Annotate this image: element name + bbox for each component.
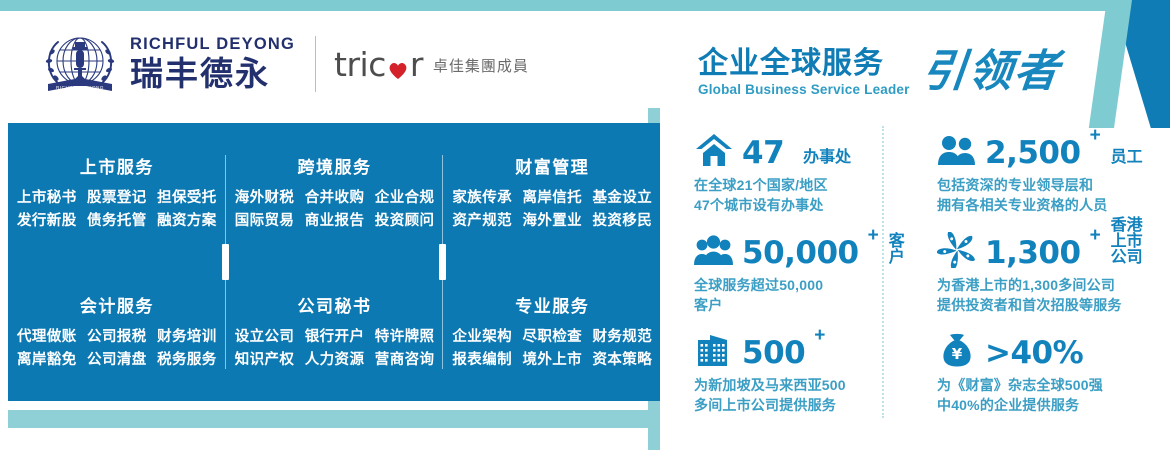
stat-unit: 办事处	[803, 150, 851, 168]
service-items-row: 海外财税 合并收购 企业合规	[232, 187, 438, 209]
service-group-listing[interactable]: 上市服务 上市秘书 股票登记 担保受托 发行新股 债务托管 融资方案	[8, 123, 226, 262]
stat-plus: +	[1090, 126, 1101, 145]
brand-text-block: RICHFUL DEYONG 瑞丰德永	[130, 35, 295, 93]
service-item[interactable]: 财务规范	[593, 329, 653, 345]
two-people-icon	[937, 132, 977, 168]
service-item[interactable]: 财务培训	[157, 329, 217, 345]
stat-desc-line: 为香港上市的1,300多间公司	[937, 275, 1148, 295]
service-group-accounting[interactable]: 会计服务 代理做账 公司报税 财务培训 离岸豁免 公司清盘 税务服务	[8, 262, 226, 401]
service-group-title: 专业服务	[515, 292, 589, 317]
service-group-title: 上市服务	[80, 153, 154, 178]
headline-text-stack: 企业全球服务 Global Business Service Leader	[698, 48, 910, 97]
stat-description: 为新加坡及马来西亚500 多间上市公司提供服务	[694, 375, 905, 416]
service-item[interactable]: 企业合规	[375, 190, 435, 206]
stat-number: 47	[742, 139, 784, 168]
brand-name-cn: 瑞丰德永	[130, 55, 295, 93]
service-items-row: 知识产权 人力资源 营商咨询	[232, 349, 438, 371]
stat-description: 为《财富》杂志全球500强 中40%的企业提供服务	[937, 375, 1148, 416]
stat-description: 在全球21个国家/地区 47个城市设有办事处	[694, 175, 905, 216]
stat-desc-line: 全球服务超过50,000	[694, 275, 905, 295]
service-items-row: 离岸豁免 公司清盘 税务服务	[14, 349, 220, 371]
tricor-logo: tric r 卓佳集團成員	[334, 48, 529, 81]
service-items-row: 发行新股 债务托管 融资方案	[14, 210, 220, 232]
service-item[interactable]: 特许牌照	[375, 329, 435, 345]
service-item[interactable]: 发行新股	[17, 213, 77, 229]
services-grid: 上市服务 上市秘书 股票登记 担保受托 发行新股 债务托管 融资方案 跨境服务 …	[8, 123, 660, 401]
service-item[interactable]: 企业架构	[452, 329, 512, 345]
headline-block: 企业全球服务 Global Business Service Leader 引领…	[698, 48, 1060, 97]
service-items-row: 家族传承 离岸信托 基金设立	[449, 187, 655, 209]
service-group-company-secretary[interactable]: 公司秘书 设立公司 银行开户 特许牌照 知识产权 人力资源 营商咨询	[226, 262, 444, 401]
service-item[interactable]: 营商咨询	[375, 352, 435, 368]
service-item[interactable]: 资产规范	[452, 213, 512, 229]
tricor-member-label: 卓佳集團成員	[433, 55, 529, 81]
stat-unit: 香港上市公司	[1111, 218, 1148, 268]
tricor-word-part2: r	[410, 48, 423, 81]
stat-clients: 50,000 + 客户 全球服务超过50,000 客户	[694, 226, 911, 326]
service-items-row: 资产规范 海外置业 投资移民	[449, 210, 655, 232]
crest-ribbon-text: RICHFUL DEYONG	[56, 85, 104, 90]
service-group-title: 会计服务	[80, 292, 154, 317]
stat-number: 2,500	[985, 139, 1081, 168]
service-group-professional[interactable]: 专业服务 企业架构 尽职检查 财务规范 报表编制 境外上市 资本策略	[443, 262, 661, 401]
svg-text:¥: ¥	[952, 345, 963, 363]
service-item[interactable]: 公司清盘	[87, 352, 147, 368]
service-group-title: 公司秘书	[298, 292, 372, 317]
stat-description: 为香港上市的1,300多间公司 提供投资者和首次招股等服务	[937, 275, 1148, 316]
service-item[interactable]: 国际贸易	[235, 213, 295, 229]
headline-subtitle-en: Global Business Service Leader	[698, 82, 910, 97]
service-item[interactable]: 债务托管	[87, 213, 147, 229]
stat-desc-line: 47个城市设有办事处	[694, 195, 905, 215]
service-item[interactable]: 离岸豁免	[17, 352, 77, 368]
service-item[interactable]: 商业报告	[305, 213, 365, 229]
service-group-cross-border[interactable]: 跨境服务 海外财税 合并收购 企业合规 国际贸易 商业报告 投资顾问	[226, 123, 444, 262]
stat-unit: 客户	[889, 234, 905, 268]
stat-offices: 47 办事处 在全球21个国家/地区 47个城市设有办事处	[694, 126, 911, 226]
service-item[interactable]: 离岸信托	[522, 190, 582, 206]
stat-fortune-500: ¥ >40% 为《财富》杂志全球500强 中40%的企业提供服务	[937, 326, 1154, 426]
services-separator-knob-2	[439, 244, 446, 280]
stat-plus: +	[868, 226, 879, 245]
house-icon	[694, 132, 734, 168]
tricor-word-part1: tric	[334, 48, 386, 81]
stat-desc-line: 在全球21个国家/地区	[694, 175, 905, 195]
stat-unit: 员工	[1111, 150, 1143, 168]
stat-plus: +	[814, 326, 825, 345]
stat-hk-listed-companies: 1,300 + 香港上市公司 为香港上市的1,300多间公司 提供投资者和首次招…	[937, 226, 1154, 326]
service-item[interactable]: 合并收购	[305, 190, 365, 206]
corner-wedge-teal	[1072, 0, 1132, 128]
service-item[interactable]: 税务服务	[157, 352, 217, 368]
headline-script-cn: 引领者	[919, 51, 1062, 97]
service-item[interactable]: 尽职检查	[522, 329, 582, 345]
stat-desc-line: 中40%的企业提供服务	[937, 395, 1148, 415]
service-item[interactable]: 境外上市	[522, 352, 582, 368]
top-teal-bar	[0, 0, 1170, 11]
service-item[interactable]: 上市秘书	[17, 190, 77, 206]
tricor-wordmark: tric r	[334, 48, 423, 81]
service-item[interactable]: 公司报税	[87, 329, 147, 345]
stat-staff: 2,500 + 员工 包括资深的专业领导层和 拥有各相关专业资格的人员	[937, 126, 1154, 226]
services-separator-knob-1	[222, 244, 229, 280]
service-item[interactable]: 银行开户	[305, 329, 365, 345]
stat-desc-line: 为新加坡及马来西亚500	[694, 375, 905, 395]
service-items-row: 报表编制 境外上市 资本策略	[449, 349, 655, 371]
stat-number: >40%	[985, 339, 1083, 368]
service-group-wealth[interactable]: 财富管理 家族传承 离岸信托 基金设立 资产规范 海外置业 投资移民	[443, 123, 661, 262]
stat-headline: 500 +	[694, 326, 905, 368]
services-panel: 上市服务 上市秘书 股票登记 担保受托 发行新股 债务托管 融资方案 跨境服务 …	[8, 123, 660, 401]
service-item[interactable]: 报表编制	[452, 352, 512, 368]
stat-headline: 1,300 + 香港上市公司	[937, 226, 1148, 268]
service-item[interactable]: 海外财税	[235, 190, 295, 206]
service-group-title: 财富管理	[515, 153, 589, 178]
stats-grid: 47 办事处 在全球21个国家/地区 47个城市设有办事处	[694, 126, 1154, 426]
money-bag-icon: ¥	[937, 332, 977, 368]
service-item[interactable]: 担保受托	[157, 190, 217, 206]
service-item[interactable]: 投资顾问	[375, 213, 435, 229]
stat-description: 全球服务超过50,000 客户	[694, 275, 905, 316]
stat-number: 500	[742, 339, 805, 368]
service-item[interactable]: 代理做账	[17, 329, 77, 345]
service-item[interactable]: 投资移民	[593, 213, 653, 229]
tricor-heart-o-icon	[387, 53, 409, 75]
three-people-icon	[694, 232, 734, 268]
stat-headline: 47 办事处	[694, 126, 905, 168]
stat-desc-line: 拥有各相关专业资格的人员	[937, 195, 1148, 215]
bottom-teal-bar	[8, 410, 660, 428]
stat-number: 1,300	[985, 239, 1081, 268]
bauhinia-flower-icon	[937, 232, 977, 268]
richful-deyong-crest-icon: RICHFUL DEYONG	[40, 28, 120, 100]
stat-desc-line: 为《财富》杂志全球500强	[937, 375, 1148, 395]
brand-name-en: RICHFUL DEYONG	[130, 35, 295, 53]
service-items-row: 设立公司 银行开户 特许牌照	[232, 326, 438, 348]
service-items-row: 企业架构 尽职检查 财务规范	[449, 326, 655, 348]
stat-headline: ¥ >40%	[937, 326, 1148, 368]
stat-desc-line: 客户	[694, 295, 905, 315]
stat-sg-my-listed: 500 + 为新加坡及马来西亚500 多间上市公司提供服务	[694, 326, 911, 426]
stat-desc-line: 提供投资者和首次招股等服务	[937, 295, 1148, 315]
service-item[interactable]: 家族传承	[452, 190, 512, 206]
poster-canvas: RICHFUL DEYONG RICHFUL DEYONG 瑞丰德永 tric …	[0, 0, 1170, 450]
service-item[interactable]: 股票登记	[87, 190, 147, 206]
service-item[interactable]: 资本策略	[593, 352, 653, 368]
service-items-row: 代理做账 公司报税 财务培训	[14, 326, 220, 348]
service-group-title: 跨境服务	[298, 153, 372, 178]
stat-plus: +	[1090, 226, 1101, 245]
brand-logo-row: RICHFUL DEYONG RICHFUL DEYONG 瑞丰德永 tric …	[40, 28, 529, 100]
stat-headline: 50,000 + 客户	[694, 226, 905, 268]
service-item[interactable]: 融资方案	[157, 213, 217, 229]
stat-desc-line: 包括资深的专业领导层和	[937, 175, 1148, 195]
stat-desc-line: 多间上市公司提供服务	[694, 395, 905, 415]
stat-number: 50,000	[742, 239, 859, 268]
building-icon	[694, 332, 734, 368]
stat-headline: 2,500 + 员工	[937, 126, 1148, 168]
service-items-row: 上市秘书 股票登记 担保受托	[14, 187, 220, 209]
service-item[interactable]: 知识产权	[235, 352, 295, 368]
service-items-row: 国际贸易 商业报告 投资顾问	[232, 210, 438, 232]
headline-title-cn: 企业全球服务	[698, 48, 910, 80]
service-item[interactable]: 人力资源	[305, 352, 365, 368]
stat-description: 包括资深的专业领导层和 拥有各相关专业资格的人员	[937, 175, 1148, 216]
service-item[interactable]: 海外置业	[522, 213, 582, 229]
service-item[interactable]: 基金设立	[593, 190, 653, 206]
service-item[interactable]: 设立公司	[235, 329, 295, 345]
brand-divider	[315, 36, 316, 92]
